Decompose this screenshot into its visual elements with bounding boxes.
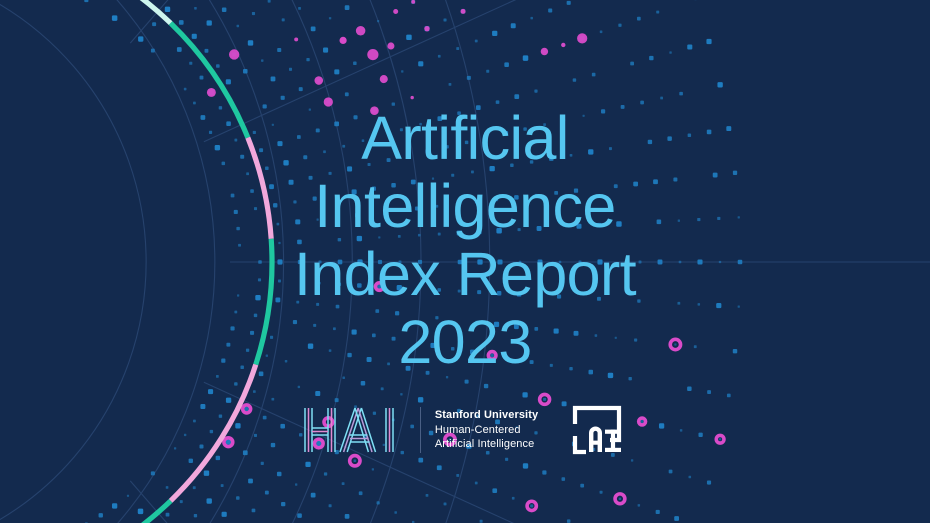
stanford-line-3: Artificial Intelligence [435,437,538,452]
logo-divider [420,407,421,453]
ai-index-logo-icon [566,402,628,458]
stanford-line-1: Stanford University [435,408,538,423]
hai-logo-lockup: Stanford University Human-Centered Artif… [302,404,538,456]
stanford-hai-wordmark: Stanford University Human-Centered Artif… [435,408,538,452]
stanford-line-2: Human-Centered [435,423,538,438]
title-line-1: Artificial [294,104,636,172]
page-title: Artificial Intelligence Index Report 202… [294,104,636,376]
title-line-3: Index Report [294,240,636,308]
title-line-2: Intelligence [294,172,636,240]
logo-row: Stanford University Human-Centered Artif… [302,402,628,458]
report-cover: Artificial Intelligence Index Report 202… [0,0,930,523]
hai-logo-icon [302,404,406,456]
title-line-4-year: 2023 [294,308,636,376]
